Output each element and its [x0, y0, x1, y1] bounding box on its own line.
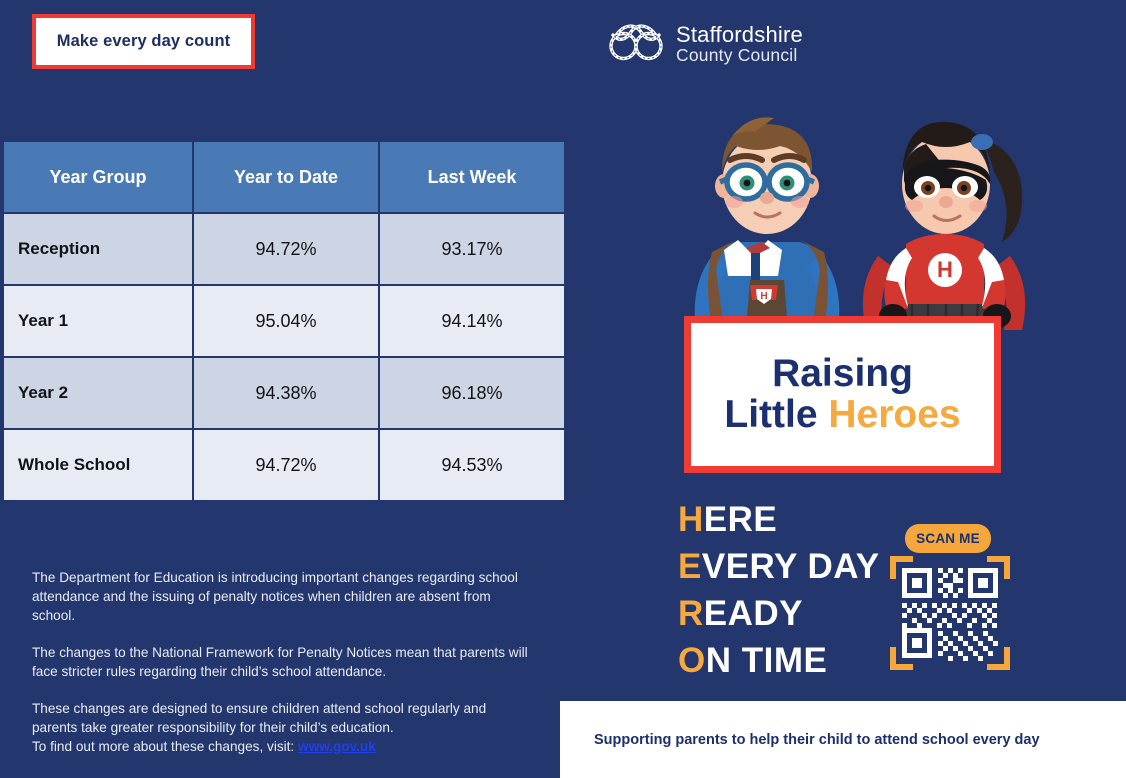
hero-rest-every-day: VERY DAY: [702, 547, 880, 586]
hero-acronym-list: HERE EVERY DAY READY ON TIME: [678, 496, 880, 684]
information-copy: The Department for Education is introduc…: [32, 568, 532, 756]
table-row: Year 2 94.38% 96.18%: [4, 358, 564, 428]
logo-line-county-council: County Council: [676, 47, 803, 65]
staffordshire-knot-icon: [605, 20, 667, 69]
copy-paragraph-1: The Department for Education is introduc…: [32, 568, 532, 625]
cell-last-week: 96.18%: [380, 358, 564, 428]
table-row: Year 1 95.04% 94.14%: [4, 286, 564, 356]
raising-little-text: Little: [724, 393, 828, 436]
raising-little-heroes-card: Raising Little Heroes: [684, 316, 1001, 473]
attendance-table-wrapper: Year Group Year to Date Last Week Recept…: [2, 140, 558, 502]
column-header-year-group: Year Group: [4, 142, 192, 212]
attendance-newsletter-page: Make every day count Year Group Year to …: [0, 0, 1126, 778]
cell-last-week: 94.14%: [380, 286, 564, 356]
cell-year-group: Reception: [4, 214, 192, 284]
hero-cap-h: H: [678, 500, 704, 539]
cell-last-week: 93.17%: [380, 214, 564, 284]
hero-cap-e: E: [678, 547, 702, 586]
hero-line-ready: READY: [678, 590, 880, 637]
council-logo-text: Staffordshire County Council: [676, 24, 803, 64]
column-header-last-week: Last Week: [380, 142, 564, 212]
hero-rest-ready: EADY: [704, 594, 803, 633]
hero-line-on-time: ON TIME: [678, 637, 880, 684]
table-header-row: Year Group Year to Date Last Week: [4, 142, 564, 212]
cell-year-group: Whole School: [4, 430, 192, 500]
girl-hero: H: [863, 122, 1025, 330]
copy-paragraph-2: The changes to the National Framework fo…: [32, 643, 532, 681]
scan-me-badge[interactable]: SCAN ME: [905, 524, 991, 553]
copy-paragraph-3: These changes are designed to ensure chi…: [32, 699, 532, 756]
cell-year-group: Year 1: [4, 286, 192, 356]
raising-line-2: Little Heroes: [724, 395, 960, 436]
footer-label: Supporting parents to help their child t…: [594, 732, 1040, 748]
footer-bar: Supporting parents to help their child t…: [560, 701, 1126, 778]
boy-hero: H: [695, 117, 840, 330]
table-row: Whole School 94.72% 94.53%: [4, 430, 564, 500]
hero-rest-here: ERE: [704, 500, 777, 539]
hero-cap-o: O: [678, 641, 706, 680]
hero-line-every-day: EVERY DAY: [678, 543, 880, 590]
svg-text:H: H: [937, 257, 953, 282]
column-header-year-to-date: Year to Date: [194, 142, 378, 212]
qr-code[interactable]: [890, 553, 1010, 673]
council-logo: Staffordshire County Council: [605, 20, 803, 69]
superhero-children-illustration: H: [650, 80, 1050, 330]
make-every-day-count-banner: Make every day count: [32, 14, 255, 69]
cell-last-week: 94.53%: [380, 430, 564, 500]
hero-line-here: HERE: [678, 496, 880, 543]
raising-heroes-text: Heroes: [828, 393, 960, 436]
cell-year-to-date: 94.72%: [194, 430, 378, 500]
banner-label: Make every day count: [57, 32, 231, 51]
attendance-table: Year Group Year to Date Last Week Recept…: [2, 140, 566, 502]
svg-text:H: H: [760, 291, 767, 302]
copy-visit-prefix: To find out more about these changes, vi…: [32, 739, 298, 754]
raising-line-1: Raising: [772, 354, 913, 395]
hero-rest-on-time: N TIME: [706, 641, 828, 680]
cell-year-group: Year 2: [4, 358, 192, 428]
gov-uk-link[interactable]: www.gov.uk: [298, 739, 376, 754]
table-row: Reception 94.72% 93.17%: [4, 214, 564, 284]
cell-year-to-date: 95.04%: [194, 286, 378, 356]
cell-year-to-date: 94.72%: [194, 214, 378, 284]
logo-line-staffordshire: Staffordshire: [676, 24, 803, 46]
copy-paragraph-3-text: These changes are designed to ensure chi…: [32, 701, 486, 735]
scan-me-label: SCAN ME: [916, 531, 980, 546]
cell-year-to-date: 94.38%: [194, 358, 378, 428]
hero-cap-r: R: [678, 594, 704, 633]
